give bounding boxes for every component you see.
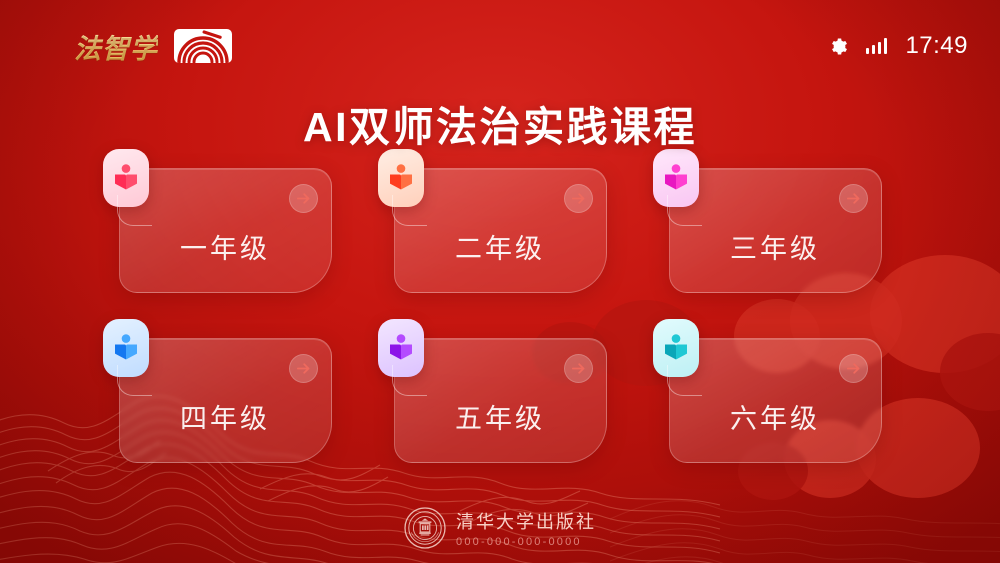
clock-time: 17:49 bbox=[905, 32, 968, 60]
book-icon-badge bbox=[103, 149, 149, 207]
gear-icon[interactable] bbox=[827, 36, 848, 57]
book-icon bbox=[388, 333, 414, 363]
book-icon-badge bbox=[653, 319, 699, 377]
grade-card-label: 四年级 bbox=[120, 397, 331, 436]
book-icon bbox=[388, 163, 414, 193]
go-arrow-button[interactable] bbox=[564, 354, 593, 383]
app-screen: 法智学 bbox=[0, 0, 1000, 563]
brand-group: 法智学 bbox=[74, 27, 232, 66]
grade-card-label: 一年级 bbox=[120, 227, 331, 266]
grade-card-grid: 一年级 二年级 bbox=[0, 168, 1000, 463]
arrow-right-icon bbox=[295, 190, 312, 207]
go-arrow-button[interactable] bbox=[839, 354, 868, 383]
page-title: AI双师法治实践课程 bbox=[0, 93, 1000, 153]
grade-card-label: 六年级 bbox=[670, 397, 881, 436]
grade-card[interactable]: 五年级 bbox=[394, 338, 607, 463]
go-arrow-button[interactable] bbox=[564, 184, 593, 213]
signal-bars-icon bbox=[866, 38, 888, 54]
book-icon-badge bbox=[378, 319, 424, 377]
go-arrow-button[interactable] bbox=[839, 184, 868, 213]
footer: 清华大学出版社 000-000-000-0000 bbox=[0, 507, 1000, 549]
arc-rainbow-mark-icon bbox=[174, 29, 232, 63]
go-arrow-button[interactable] bbox=[289, 184, 318, 213]
book-icon-badge bbox=[103, 319, 149, 377]
grade-card[interactable]: 一年级 bbox=[119, 168, 332, 293]
book-icon-badge bbox=[653, 149, 699, 207]
publisher-block: 清华大学出版社 000-000-000-0000 bbox=[456, 508, 596, 548]
arrow-right-icon bbox=[570, 190, 587, 207]
publisher-phone: 000-000-000-0000 bbox=[456, 536, 582, 548]
book-icon-badge bbox=[378, 149, 424, 207]
system-indicators: 17:49 bbox=[827, 32, 968, 60]
brand-wordmark: 法智学 bbox=[74, 27, 158, 66]
grade-card[interactable]: 六年级 bbox=[669, 338, 882, 463]
book-icon bbox=[663, 163, 689, 193]
grade-card-label: 二年级 bbox=[395, 227, 606, 266]
book-icon bbox=[113, 163, 139, 193]
tsinghua-seal-icon bbox=[404, 507, 446, 549]
arrow-right-icon bbox=[570, 360, 587, 377]
status-bar: 法智学 bbox=[0, 0, 1000, 92]
arrow-right-icon bbox=[295, 360, 312, 377]
book-icon bbox=[113, 333, 139, 363]
arrow-right-icon bbox=[845, 190, 862, 207]
publisher-name: 清华大学出版社 bbox=[456, 508, 596, 534]
grade-card-label: 三年级 bbox=[670, 227, 881, 266]
grade-card[interactable]: 三年级 bbox=[669, 168, 882, 293]
go-arrow-button[interactable] bbox=[289, 354, 318, 383]
book-icon bbox=[663, 333, 689, 363]
grade-card-label: 五年级 bbox=[395, 397, 606, 436]
arrow-right-icon bbox=[845, 360, 862, 377]
grade-card[interactable]: 四年级 bbox=[119, 338, 332, 463]
grade-card[interactable]: 二年级 bbox=[394, 168, 607, 293]
